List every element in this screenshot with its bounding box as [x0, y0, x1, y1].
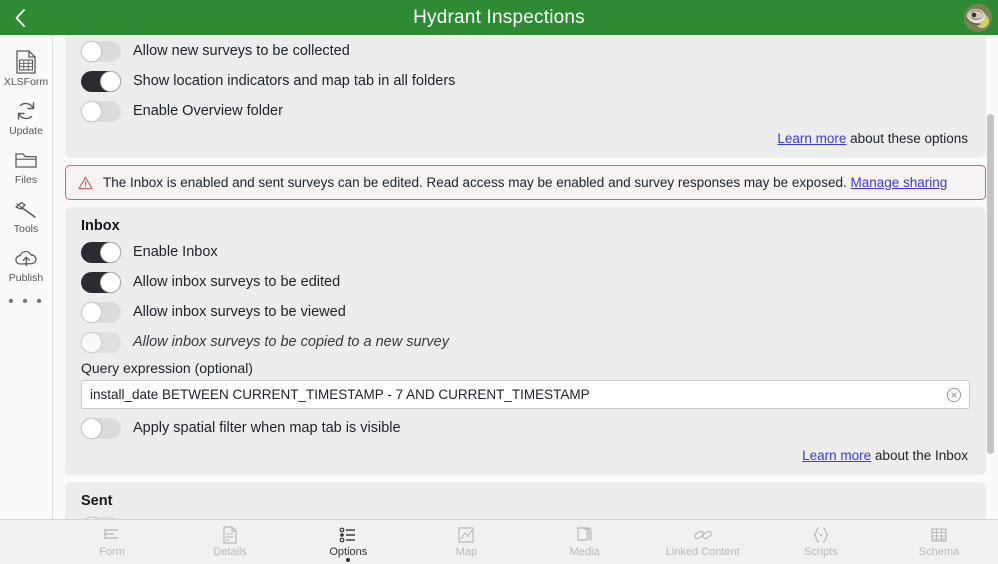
toggle-label: Enable Inbox [133, 244, 218, 260]
learn-more-options-line: Learn more about these options [81, 126, 970, 148]
toggle-label: Allow inbox surveys to be copied to a ne… [133, 334, 449, 350]
toggle-row-show-location-indicators[interactable]: Show location indicators and map tab in … [81, 66, 970, 96]
toggle-row-enable-overview-folder[interactable]: Enable Overview folder [81, 96, 970, 126]
toggle-label: Show location indicators and map tab in … [133, 73, 455, 89]
toggle-enable-sent-folder[interactable] [81, 517, 121, 520]
back-button[interactable] [0, 0, 40, 36]
options-content: Allow new surveys to be collected Show l… [53, 36, 998, 519]
tab-label: Media [570, 546, 600, 559]
app-window: Hydrant Inspections [0, 0, 998, 564]
toggle-enable-overview-folder[interactable] [81, 101, 121, 122]
document-details-icon [222, 525, 238, 545]
sent-card: Sent Enable Sent folder [65, 482, 986, 519]
hammer-icon [13, 196, 39, 222]
sent-section-title: Sent [81, 488, 970, 512]
rail-item-xlsform[interactable]: XLSForm [0, 44, 53, 93]
toggle-row-allow-new-surveys[interactable]: Allow new surveys to be collected [81, 36, 970, 66]
toggle-row-allow-inbox-viewed[interactable]: Allow inbox surveys to be viewed [81, 297, 970, 327]
avatar[interactable] [964, 4, 992, 32]
learn-more-options-suffix: about these options [846, 131, 968, 146]
tab-scripts[interactable]: Scripts [762, 520, 880, 564]
rail-label: Publish [9, 272, 43, 285]
scrollbar-thumb[interactable] [987, 114, 994, 454]
inbox-warning-banner: The Inbox is enabled and sent surveys ca… [65, 165, 986, 200]
clear-circle-x-icon[interactable] [946, 387, 962, 403]
query-expression-label: Query expression (optional) [81, 357, 970, 380]
cloud-upload-icon [13, 245, 39, 271]
inbox-card: Inbox Enable Inbox Allow inbox surveys t… [65, 207, 986, 475]
body-region: XLSForm Update [0, 36, 998, 519]
vertical-scrollbar[interactable] [986, 74, 995, 513]
inbox-section-title: Inbox [81, 213, 970, 237]
tab-details[interactable]: Details [171, 520, 289, 564]
toggle-label: Apply spatial filter when map tab is vis… [133, 420, 401, 436]
xlsform-spreadsheet-icon [13, 49, 39, 75]
refresh-circular-arrows-icon [13, 98, 39, 124]
options-list-icon [339, 525, 358, 545]
learn-more-options-link[interactable]: Learn more [777, 131, 846, 146]
app-header: Hydrant Inspections [0, 0, 998, 36]
toggle-apply-spatial-filter[interactable] [81, 418, 121, 439]
toggle-allow-inbox-viewed[interactable] [81, 302, 121, 323]
tab-linked-content[interactable]: Linked Content [644, 520, 762, 564]
tab-label: Form [99, 546, 125, 559]
tab-label: Schema [919, 546, 959, 559]
warning-triangle-icon [78, 176, 94, 190]
rail-overflow-button[interactable]: • • • [8, 295, 44, 309]
toggle-label: Allow new surveys to be collected [133, 43, 350, 59]
tab-options[interactable]: Options [289, 520, 407, 564]
manage-sharing-link[interactable]: Manage sharing [850, 175, 947, 190]
toggle-label: Allow inbox surveys to be viewed [133, 304, 346, 320]
toggle-row-enable-sent-folder[interactable]: Enable Sent folder [81, 512, 970, 519]
tab-label: Linked Content [666, 546, 740, 559]
bottom-tab-bar: Form Details [0, 519, 998, 564]
toggle-enable-inbox[interactable] [81, 242, 121, 263]
query-expression-field[interactable] [81, 380, 970, 409]
page-title: Hydrant Inspections [0, 7, 998, 29]
warning-message: The Inbox is enabled and sent surveys ca… [103, 175, 850, 190]
tab-schema[interactable]: Schema [880, 520, 998, 564]
media-stack-icon [576, 525, 594, 545]
tab-label: Scripts [804, 546, 838, 559]
rail-item-publish[interactable]: Publish [0, 240, 53, 289]
options-scroll-region: Allow new surveys to be collected Show l… [53, 36, 998, 519]
left-rail: XLSForm Update [0, 36, 53, 519]
toggle-row-allow-inbox-edited[interactable]: Allow inbox surveys to be edited [81, 267, 970, 297]
toggle-row-allow-inbox-copied: Allow inbox surveys to be copied to a ne… [81, 327, 970, 357]
rail-item-files[interactable]: Files [0, 142, 53, 191]
tab-media[interactable]: Media [526, 520, 644, 564]
scripts-braces-icon [811, 525, 831, 545]
toggle-allow-new-surveys[interactable] [81, 41, 121, 62]
rail-item-update[interactable]: Update [0, 93, 53, 142]
warning-banner-text: The Inbox is enabled and sent surveys ca… [103, 175, 947, 190]
learn-more-inbox-link[interactable]: Learn more [802, 448, 871, 463]
general-options-card: Allow new surveys to be collected Show l… [65, 36, 986, 158]
toggle-allow-inbox-edited[interactable] [81, 272, 121, 293]
form-lines-icon [103, 525, 122, 545]
toggle-label: Allow inbox surveys to be edited [133, 274, 340, 290]
rail-label: Tools [14, 223, 39, 236]
toggle-row-enable-inbox[interactable]: Enable Inbox [81, 237, 970, 267]
tab-form[interactable]: Form [53, 520, 171, 564]
link-chain-icon [693, 525, 713, 545]
active-indicator-dot [346, 558, 350, 562]
toggle-row-apply-spatial-filter[interactable]: Apply spatial filter when map tab is vis… [81, 413, 970, 443]
rail-item-tools[interactable]: Tools [0, 191, 53, 240]
map-icon [457, 525, 475, 545]
learn-more-inbox-suffix: about the Inbox [871, 448, 968, 463]
tab-map[interactable]: Map [407, 520, 525, 564]
toggle-show-location-indicators[interactable] [81, 71, 121, 92]
toggle-allow-inbox-copied [81, 332, 121, 353]
learn-more-inbox-line: Learn more about the Inbox [81, 443, 970, 465]
tab-label: Details [213, 546, 247, 559]
toggle-label: Enable Overview folder [133, 103, 283, 119]
schema-grid-icon [930, 525, 948, 545]
query-expression-input[interactable] [82, 381, 969, 408]
rail-label: Files [15, 174, 37, 187]
folder-icon [13, 147, 39, 173]
rail-label: XLSForm [4, 76, 48, 89]
rail-label: Update [9, 125, 43, 138]
tab-label: Map [456, 546, 477, 559]
